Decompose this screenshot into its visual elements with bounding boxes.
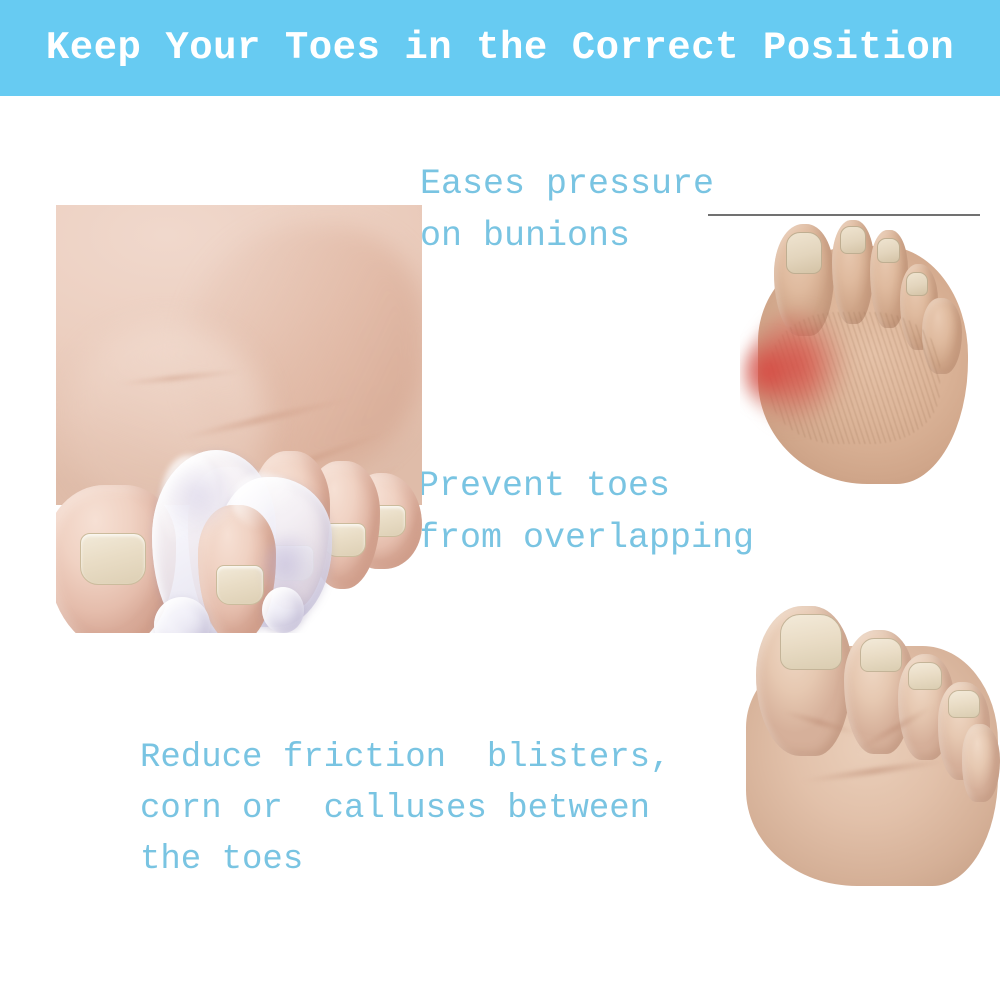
feature-text-reduce-friction: Reduce friction blisters, corn or callus… — [140, 733, 671, 886]
photo-inflamed-bunion — [740, 216, 980, 492]
product-infographic: Keep Your Toes in the Correct Position E… — [0, 0, 1000, 1000]
photo-overlapping-toes — [740, 600, 1000, 892]
feature-text-eases-pressure: Eases pressure on bunions — [420, 158, 714, 262]
header-banner: Keep Your Toes in the Correct Position — [0, 0, 1000, 96]
page-title: Keep Your Toes in the Correct Position — [46, 26, 954, 70]
feature-text-prevent-overlapping: Prevent toes from overlapping — [418, 460, 754, 564]
photo-foot-with-gel-separator — [56, 205, 422, 633]
